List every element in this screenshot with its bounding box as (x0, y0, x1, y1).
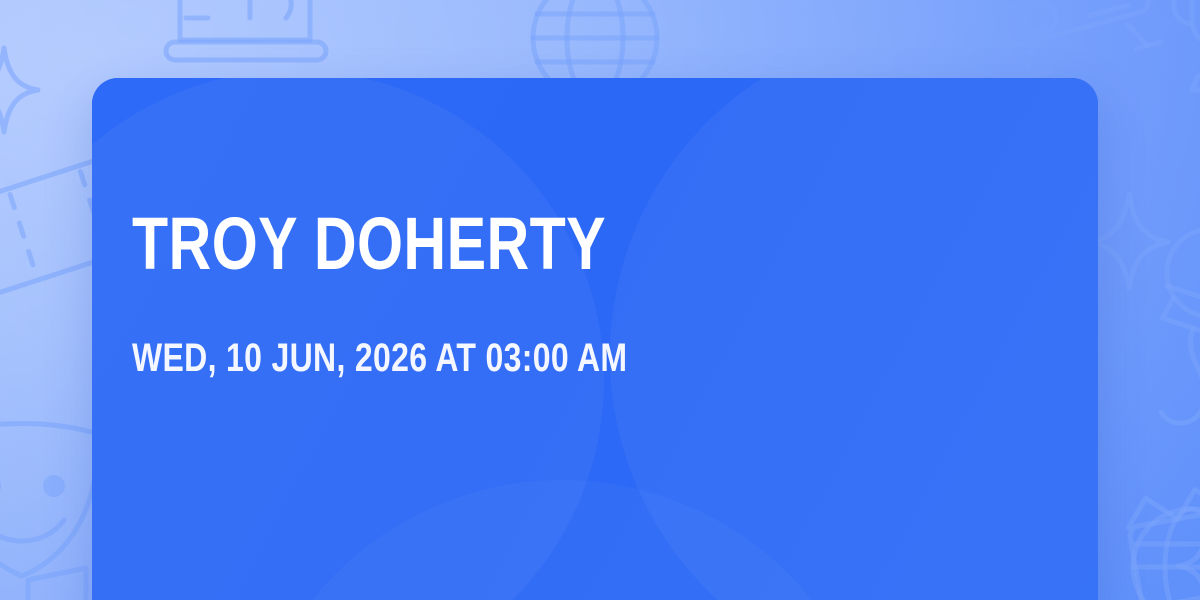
event-datetime: Wed, 10 Jun, 2026 at 03:00 AM (132, 336, 627, 380)
event-card[interactable]: Troy Doherty Wed, 10 Jun, 2026 at 03:00 … (92, 78, 1098, 600)
card-content: Troy Doherty Wed, 10 Jun, 2026 at 03:00 … (132, 78, 1058, 600)
event-title: Troy Doherty (132, 204, 606, 284)
globe-icon (1116, 492, 1200, 600)
trophy-icon (1158, 0, 1200, 116)
event-card-screen: Troy Doherty Wed, 10 Jun, 2026 at 03:00 … (0, 0, 1200, 600)
